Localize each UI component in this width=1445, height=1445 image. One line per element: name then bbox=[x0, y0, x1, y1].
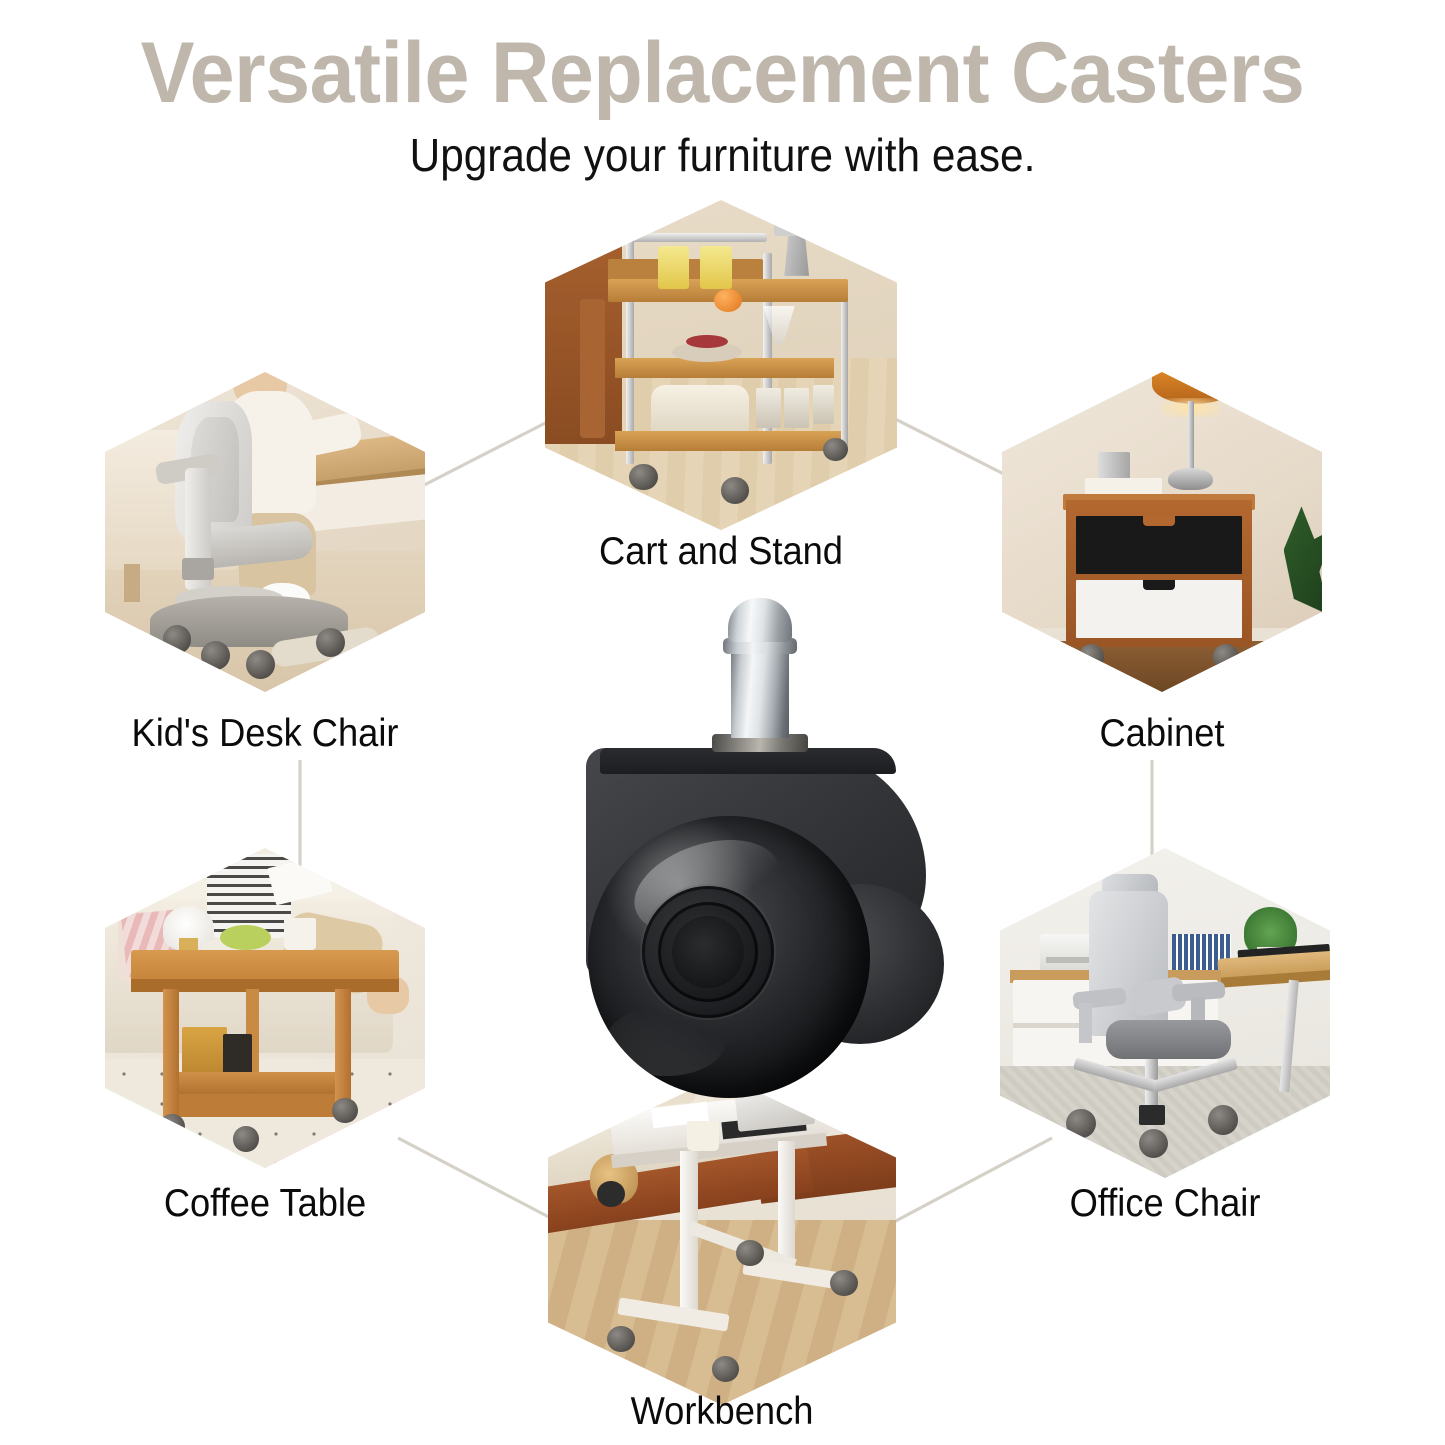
hex-office-chair[interactable] bbox=[1000, 848, 1330, 1178]
caster-stem bbox=[731, 652, 789, 738]
scene-coffee-table bbox=[105, 848, 425, 1168]
hex-coffee-table[interactable] bbox=[105, 848, 425, 1168]
label-office-chair: Office Chair bbox=[1012, 1182, 1319, 1226]
caster-wheel-lower-highlight bbox=[606, 1006, 726, 1076]
scene-workbench bbox=[548, 1075, 896, 1405]
scene-cart-and-stand bbox=[545, 200, 897, 530]
caster-product-image bbox=[580, 598, 940, 1038]
hex-cabinet[interactable] bbox=[1002, 372, 1322, 692]
scene-kids-desk-chair bbox=[105, 372, 425, 692]
label-workbench: Workbench bbox=[560, 1390, 884, 1434]
scene-cabinet bbox=[1002, 372, 1322, 692]
label-cart-and-stand: Cart and Stand bbox=[557, 530, 884, 574]
hex-kids-desk-chair[interactable] bbox=[105, 372, 425, 692]
label-coffee-table: Coffee Table bbox=[116, 1182, 414, 1226]
infographic-page: Versatile Replacement Casters Upgrade yo… bbox=[0, 0, 1445, 1445]
hex-workbench[interactable] bbox=[548, 1075, 896, 1405]
scene-office-chair bbox=[1000, 848, 1330, 1178]
caster-hub-inner bbox=[672, 916, 744, 988]
hex-cart-and-stand[interactable] bbox=[545, 200, 897, 530]
label-cabinet: Cabinet bbox=[1013, 712, 1311, 756]
page-subtitle: Upgrade your furniture with ease. bbox=[58, 128, 1387, 182]
caster-stem-cap bbox=[728, 598, 792, 642]
label-kids-desk-chair: Kid's Desk Chair bbox=[116, 712, 414, 756]
page-title: Versatile Replacement Casters bbox=[43, 28, 1401, 118]
